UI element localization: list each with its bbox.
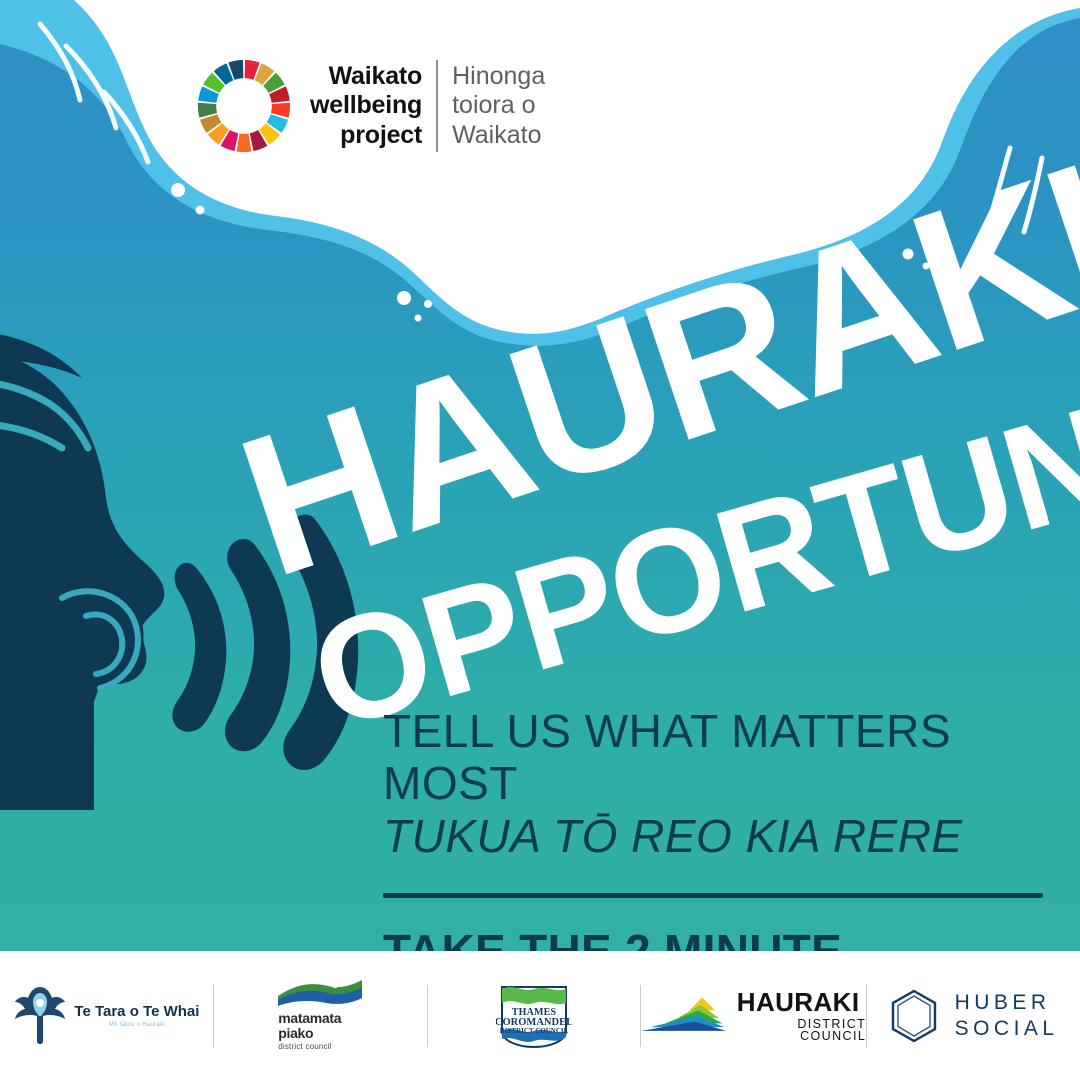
gradient-mountain-icon — [641, 994, 726, 1038]
matamata-piako-line2: piako — [278, 1026, 362, 1040]
partner-logo-te-tara-o-te-whai: Te Tara o Te Whai Mō tātou o Hauraki — [0, 978, 213, 1054]
tagline-maori: TUKUA TŌ REO KIA RERE — [383, 811, 1043, 863]
brand-mi-line1: Hinonga — [452, 62, 545, 92]
matamata-piako-line1: matamata — [278, 1011, 362, 1025]
partner-logos-footer: Te Tara o Te Whai Mō tātou o Hauraki mat… — [0, 951, 1080, 1080]
hexagon-icon — [889, 988, 939, 1044]
huber-line2: SOCIAL — [955, 1016, 1059, 1042]
partner-logo-hauraki-district-council: HAURAKI DISTRICT COUNCIL — [641, 978, 866, 1054]
tagline-divider — [383, 893, 1043, 898]
sdg-color-wheel-icon — [196, 58, 292, 154]
te-tara-name: Te Tara o Te Whai — [74, 1004, 199, 1019]
brand-en-line3: project — [310, 121, 422, 151]
partner-logo-matamata-piako-district-council: matamata piako district council — [214, 978, 427, 1054]
brand-mi-line3: Waikato — [452, 121, 545, 151]
partner-logo-thames-coromandel-district-council: THAMES COROMANDEL DISTRICT COUNCIL — [428, 978, 641, 1054]
poster-canvas: Waikato wellbeing project Hinonga toiora… — [0, 0, 1080, 1080]
brand-name-maori: Hinonga toiora o Waikato — [452, 62, 545, 151]
brand-en-line1: Waikato — [310, 62, 422, 92]
tagline-english: TELL US WHAT MATTERS MOST — [383, 706, 1043, 809]
partner-logo-huber-social: HUBER SOCIAL — [867, 978, 1080, 1054]
brand-en-line2: wellbeing — [310, 91, 422, 121]
matamata-piako-wave-icon — [278, 980, 362, 1006]
brand-logo-lockup: Waikato wellbeing project Hinonga toiora… — [196, 58, 545, 154]
shield-icon: THAMES COROMANDEL DISTRICT COUNCIL — [496, 981, 572, 1051]
te-tara-tagline: Mō tātou o Hauraki — [74, 1022, 199, 1028]
huber-line1: HUBER — [955, 990, 1059, 1016]
hauraki-name: HAURAKI — [737, 989, 866, 1015]
water-wave-blob-icon — [0, 0, 1080, 350]
speaking-head-silhouette-icon — [0, 330, 390, 810]
headline-opportunity: OPPORTUNITY — [300, 332, 1080, 743]
brand-mi-line2: toiora o — [452, 91, 545, 121]
tcdc-subtitle: DISTRICT COUNCIL — [500, 1027, 569, 1035]
hauraki-subtitle: DISTRICT COUNCIL — [737, 1018, 866, 1043]
brand-divider — [436, 60, 438, 152]
stingray-icon — [13, 983, 67, 1049]
brand-name-english: Waikato wellbeing project — [310, 62, 422, 151]
matamata-piako-subtitle: district council — [278, 1042, 362, 1051]
sdg-segment — [237, 133, 252, 152]
